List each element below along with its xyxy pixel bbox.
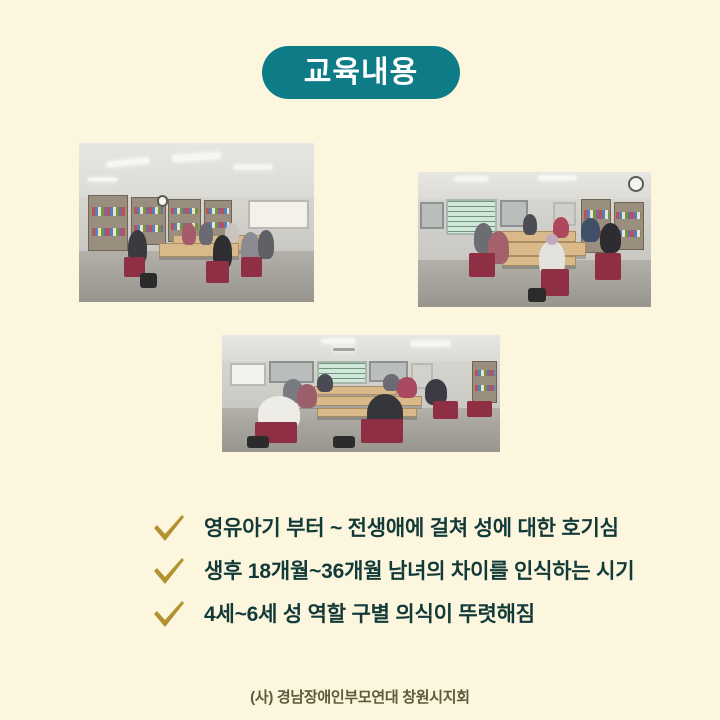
bag (247, 436, 269, 449)
list-item: 4세~6세 성 역할 구별 의식이 뚜렷해짐 (152, 593, 692, 636)
chair (469, 253, 495, 277)
check-icon (152, 513, 186, 545)
chair (361, 419, 403, 442)
wall-notice-board (248, 200, 309, 229)
ceiling (418, 172, 651, 199)
list-item-label: 생후 18개월~36개월 남녀의 차이를 인식하는 시기 (204, 561, 634, 582)
list-item: 생후 18개월~36개월 남녀의 차이를 인식하는 시기 (152, 550, 692, 593)
ceiling (79, 143, 314, 197)
chair (467, 401, 492, 417)
page-title: 교육내용 (304, 58, 418, 88)
page-title-badge: 교육내용 (262, 46, 460, 99)
chair (206, 261, 230, 283)
seated-person (258, 230, 274, 259)
ceiling-lamp-icon (88, 178, 116, 181)
seated-person (297, 384, 316, 407)
window (420, 202, 443, 229)
education-content-card: 교육내용 (0, 0, 720, 720)
list-item-label: 4세~6세 성 역할 구별 의식이 뚜렷해짐 (204, 604, 535, 625)
bookshelf (88, 195, 128, 251)
photo-bottom-center (222, 335, 500, 452)
ceiling-lamp-icon (539, 176, 576, 180)
bag (528, 288, 547, 302)
classroom-scene-2 (418, 172, 651, 307)
whiteboard (230, 363, 266, 386)
photo-top-left (79, 143, 314, 302)
chair (241, 257, 262, 276)
chair (433, 401, 458, 420)
list-item: 영유아기 부터 ~ 전생애에 걸쳐 성에 대한 호기심 (152, 507, 692, 550)
bookshelf (472, 361, 497, 403)
bag (333, 436, 355, 449)
wall-clock-icon (157, 195, 169, 206)
instructor (523, 214, 537, 236)
chair (595, 253, 621, 280)
ceiling-lamp-icon (411, 341, 450, 346)
photo-top-right (418, 172, 651, 307)
ceiling (222, 335, 500, 361)
classroom-scene-3 (222, 335, 500, 452)
check-icon (152, 599, 186, 631)
classroom-scene-1 (79, 143, 314, 302)
organization-name: (사) 경남장애인부모연대 창원시지회 (250, 689, 470, 706)
content-bullet-list: 영유아기 부터 ~ 전생애에 걸쳐 성에 대한 호기심 생후 18개월~36개월… (152, 507, 692, 636)
seated-person (546, 234, 558, 245)
ceiling-lamp-icon (322, 339, 355, 344)
seated-person (199, 223, 213, 245)
floor (79, 251, 314, 302)
check-icon (152, 556, 186, 588)
seated-person (581, 218, 600, 242)
ceiling-lamp-icon (333, 348, 355, 352)
seated-person (600, 223, 621, 253)
footer: (사) 경남장애인부모연대 창원시지회 (0, 686, 720, 707)
instructor (317, 374, 334, 393)
bag (140, 273, 156, 287)
list-item-label: 영유아기 부터 ~ 전생애에 걸쳐 성에 대한 호기심 (204, 518, 619, 539)
seated-person (397, 377, 416, 398)
ceiling-lamp-icon (234, 165, 272, 169)
ceiling-lamp-icon (455, 177, 488, 181)
